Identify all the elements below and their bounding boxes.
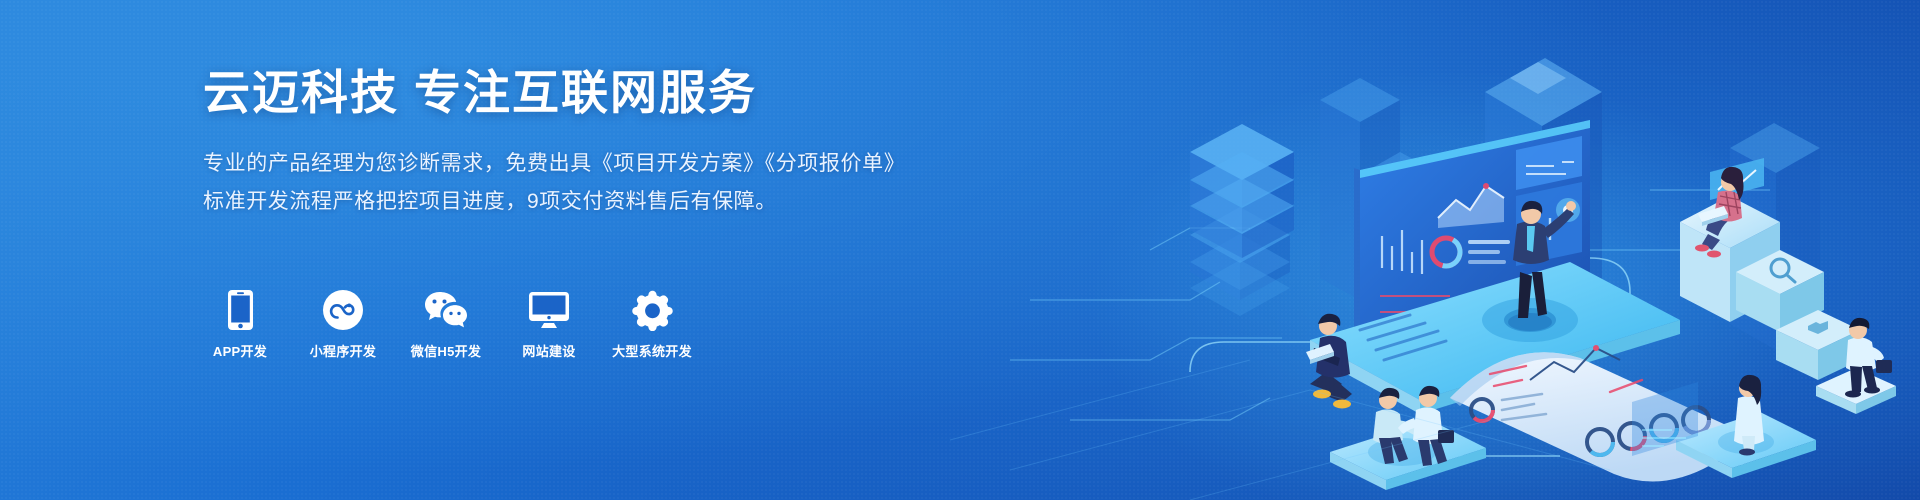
- service-label: 大型系统开发: [612, 345, 692, 358]
- service-item-miniprogram[interactable]: 小程序开发: [307, 288, 379, 358]
- service-label: 网站建设: [522, 345, 575, 358]
- service-item-app[interactable]: APP开发: [204, 288, 276, 358]
- service-item-wechat-h5[interactable]: 微信H5开发: [410, 288, 482, 358]
- illustration: [890, 0, 1920, 500]
- promo-banner: 云迈科技 专注互联网服务 专业的产品经理为您诊断需求，免费出具《项目开发方案》《…: [0, 0, 1920, 500]
- subtitle-line-1: 专业的产品经理为您诊断需求，免费出具《项目开发方案》《分项报价单》: [203, 147, 923, 181]
- gear-icon: [632, 288, 673, 332]
- service-label: 微信H5开发: [411, 345, 481, 358]
- mini-program-icon: [322, 288, 364, 332]
- service-label: APP开发: [213, 345, 267, 358]
- subtitle-line-2: 标准开发流程严格把控项目进度，9项交付资料售后有保障。: [203, 185, 923, 219]
- wechat-icon: [423, 288, 469, 332]
- banner-copy: 云迈科技 专注互联网服务 专业的产品经理为您诊断需求，免费出具《项目开发方案》《…: [203, 66, 923, 219]
- page-title: 云迈科技 专注互联网服务: [203, 66, 923, 121]
- service-list: APP开发 小程序开发: [204, 288, 688, 358]
- monitor-icon: [528, 288, 570, 332]
- service-label: 小程序开发: [310, 345, 377, 358]
- service-item-website[interactable]: 网站建设: [513, 288, 585, 358]
- mobile-phone-icon: [227, 288, 254, 332]
- service-item-large-system[interactable]: 大型系统开发: [616, 288, 688, 358]
